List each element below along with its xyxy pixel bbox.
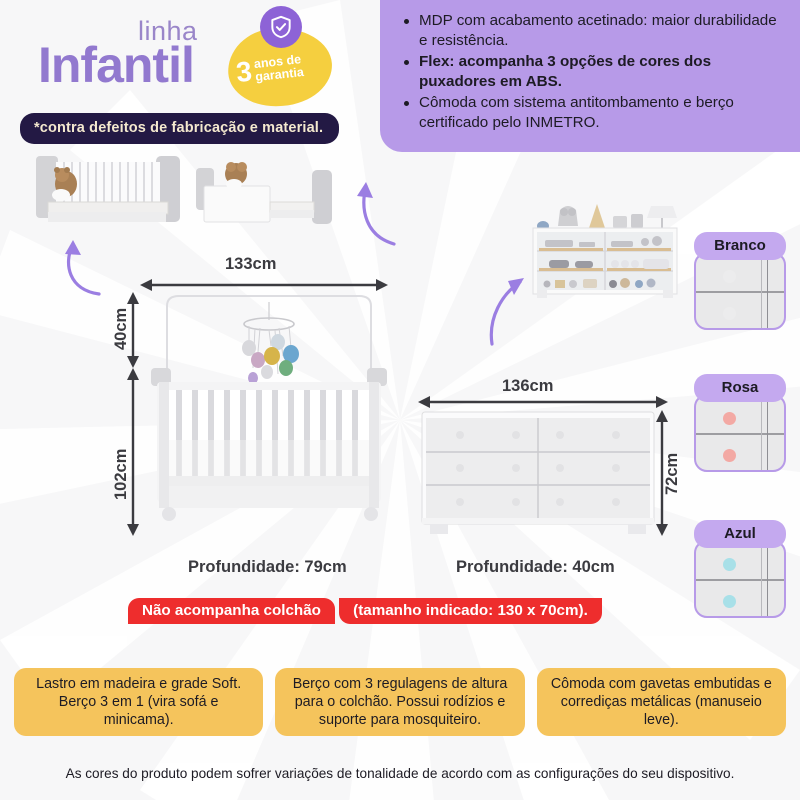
warranty-tagline: *contra defeitos de fabricação e materia… [20, 113, 339, 144]
swatch-knob-top [723, 558, 736, 571]
info-box-1: Berço com 3 regulagens de altura para o … [275, 668, 524, 736]
color-swatch-rosa[interactable]: Rosa [694, 374, 786, 472]
arrow-dresser-icon [478, 270, 538, 350]
feature-panel: MDP com acabamento acetinado: maior dura… [380, 0, 800, 152]
crib-total-height-label: 102cm [112, 449, 131, 500]
dresser-depth-label: Profundidade: 40cm [456, 558, 615, 577]
swatch-divider-v2 [761, 542, 763, 616]
swatch-divider-v2 [761, 396, 763, 470]
swatch-knob-bottom [723, 449, 736, 462]
color-swatch-label-rosa: Rosa [694, 374, 786, 402]
feature-item-1: Flex: acompanha 3 opções de cores dos pu… [402, 52, 784, 92]
crib-upper-height-label: 40cm [112, 308, 131, 350]
arrow-crib-right-icon [350, 170, 410, 250]
feature-item-2: Cômoda com sistema antitombamento e berç… [402, 93, 784, 133]
crib-depth-label: Profundidade: 79cm [188, 558, 347, 577]
color-swatch-azul[interactable]: Azul [694, 520, 786, 618]
crib-main-image [145, 290, 393, 540]
dresser-main-image [418, 410, 658, 538]
color-swatch-label-branco: Branco [694, 232, 786, 260]
seal-years-number: 3 [235, 57, 253, 86]
info-box-0: Lastro em madeira e grade Soft. Berço 3 … [14, 668, 263, 736]
swatch-knob-bottom [723, 595, 736, 608]
crib-sofa-mode-image [28, 144, 188, 234]
color-disclaimer: As cores do produto podem sofrer variaçõ… [0, 766, 800, 781]
crib-minibed-mode-image [190, 160, 340, 240]
color-swatch-preview-rosa [694, 394, 786, 472]
arrow-crib-left-icon [55, 230, 115, 300]
info-box-row: Lastro em madeira e grade Soft. Berço 3 … [14, 668, 786, 736]
color-swatch-preview-azul [694, 540, 786, 618]
color-swatch-branco[interactable]: Branco [694, 232, 786, 330]
info-box-2: Cômoda com gavetas embutidas e corrediça… [537, 668, 786, 736]
feature-list: MDP com acabamento acetinado: maior dura… [402, 11, 784, 133]
swatch-divider-h [696, 433, 784, 435]
dresser-height-label: 72cm [663, 453, 682, 495]
product-infographic: linha Infantil *contra defeitos de fabri… [0, 0, 800, 800]
crib-width-label: 133cm [225, 255, 276, 274]
mattress-notice-line1: Não acompanha colchão [128, 598, 335, 624]
mattress-notice-line2: (tamanho indicado: 130 x 70cm). [339, 598, 602, 624]
warranty-seal: 3 anos de garantia [222, 6, 338, 110]
swatch-divider-v [767, 254, 769, 328]
page-title: Infantil [38, 36, 194, 94]
dresser-width-label: 136cm [502, 377, 553, 396]
swatch-knob-top [723, 270, 736, 283]
feature-item-0: MDP com acabamento acetinado: maior dura… [402, 11, 784, 51]
swatch-divider-h [696, 291, 784, 293]
color-swatch-label-azul: Azul [694, 520, 786, 548]
swatch-divider-v [767, 542, 769, 616]
swatch-divider-h [696, 579, 784, 581]
shield-check-icon [260, 6, 302, 48]
swatch-knob-top [723, 412, 736, 425]
swatch-knob-bottom [723, 307, 736, 320]
swatch-divider-v [767, 396, 769, 470]
color-swatch-preview-branco [694, 252, 786, 330]
crib-width-arrow [140, 278, 388, 292]
mattress-notice: Não acompanha colchão (tamanho indicado:… [128, 598, 602, 624]
dresser-width-arrow [418, 395, 668, 409]
swatch-divider-v2 [761, 254, 763, 328]
